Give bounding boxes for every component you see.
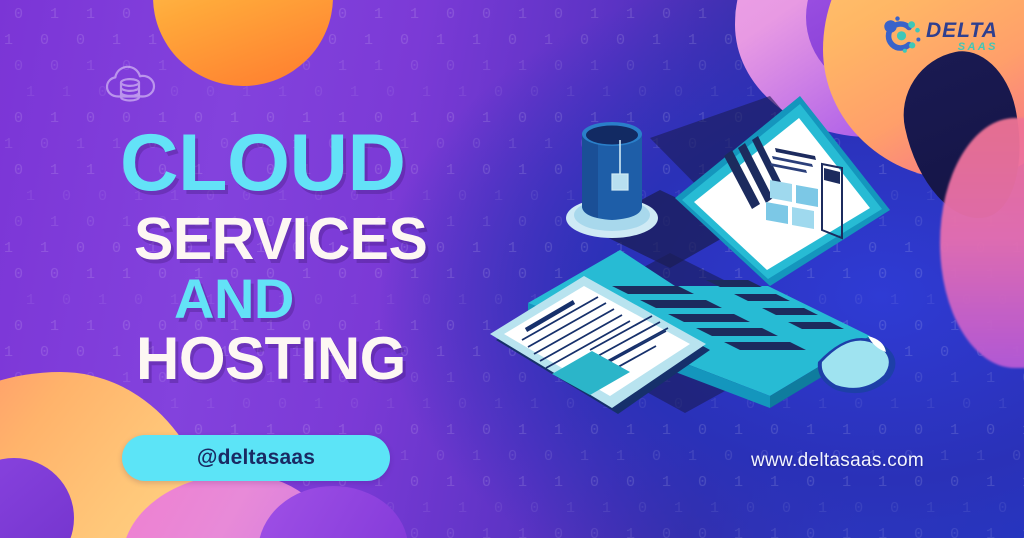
brand-sub-label: SAAS — [926, 42, 998, 53]
social-handle-badge[interactable]: @deltasaas — [122, 435, 390, 481]
headline-line-services: SERVICES — [134, 212, 552, 266]
coffee-mug-icon — [566, 122, 658, 238]
cloud-database-icon — [104, 62, 156, 106]
headline-line-hosting: HOSTING — [136, 331, 552, 386]
brand-name-label: DELTA — [926, 20, 998, 41]
headline-line-cloud: CLOUD — [120, 126, 552, 201]
headline-block: CLOUD SERVICES AND HOSTING — [112, 126, 552, 386]
promo-banner: 0 1 1 0 1 0 0 1 1 0 1 1 0 0 1 0 1 1 0 1 … — [0, 0, 1024, 538]
delta-saas-ring-icon — [878, 15, 924, 57]
website-url-label[interactable]: www.deltasaas.com — [751, 450, 924, 472]
social-handle-label: @deltasaas — [197, 446, 315, 470]
brand-logo[interactable]: DELTA SAAS — [878, 12, 1006, 60]
headline-line-and: AND — [174, 273, 552, 325]
brand-wordmark: DELTA SAAS — [926, 20, 998, 53]
